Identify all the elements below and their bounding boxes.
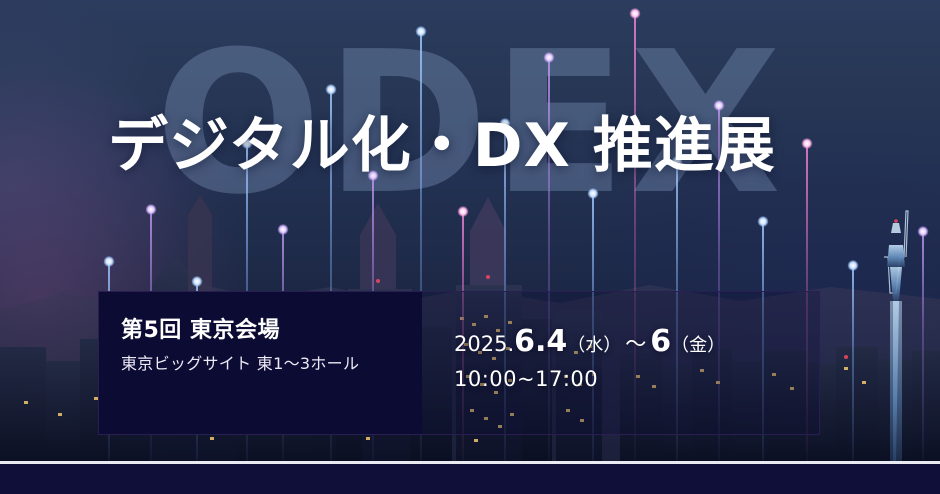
date-start: 6.4 (514, 324, 567, 359)
footer-band (0, 464, 940, 494)
beam-orb-icon (588, 188, 599, 199)
beam-orb-icon (630, 8, 641, 19)
beam-orb-icon (104, 256, 115, 267)
beam-orb-icon (918, 226, 929, 237)
date-year: 2025. (454, 332, 514, 356)
beam-orb-icon (458, 206, 469, 217)
date-end: 6 (650, 324, 671, 359)
hero-banner-page: ODEX (0, 0, 940, 494)
venue-block: 第5回 東京会場 東京ビッグサイト 東1〜3ホール (99, 292, 422, 434)
event-date-line: 2025.6.4（水）〜6（金） (454, 324, 819, 359)
date-range-mark: 〜 (621, 332, 650, 356)
page-title: デジタル化・DX 推進展 (108, 112, 776, 180)
beam-orb-icon (802, 138, 813, 149)
event-hours-label: 10:00~17:00 (454, 367, 819, 391)
event-info-panel: 第5回 東京会場 東京ビッグサイト 東1〜3ホール 2025.6.4（水）〜6（… (98, 291, 820, 435)
light-beam (922, 231, 924, 461)
beam-orb-icon (544, 52, 555, 63)
beam-orb-icon (326, 84, 337, 95)
beam-orb-icon (416, 26, 427, 37)
beam-orb-icon (848, 260, 859, 271)
schedule-block: 2025.6.4（水）〜6（金） 10:00~17:00 (422, 292, 819, 434)
beam-orb-icon (758, 216, 769, 227)
beam-orb-icon (192, 276, 203, 287)
date-end-dow: （金） (671, 335, 725, 356)
date-start-dow: （水） (567, 335, 621, 356)
venue-edition-label: 第5回 東京会場 (121, 316, 422, 346)
light-beam (852, 265, 854, 461)
hero-section: ODEX (0, 0, 940, 461)
beam-orb-icon (278, 224, 289, 235)
beam-orb-icon (146, 204, 157, 215)
beam-orb-icon (714, 100, 725, 111)
venue-hall-label: 東京ビッグサイト 東1〜3ホール (121, 352, 422, 376)
